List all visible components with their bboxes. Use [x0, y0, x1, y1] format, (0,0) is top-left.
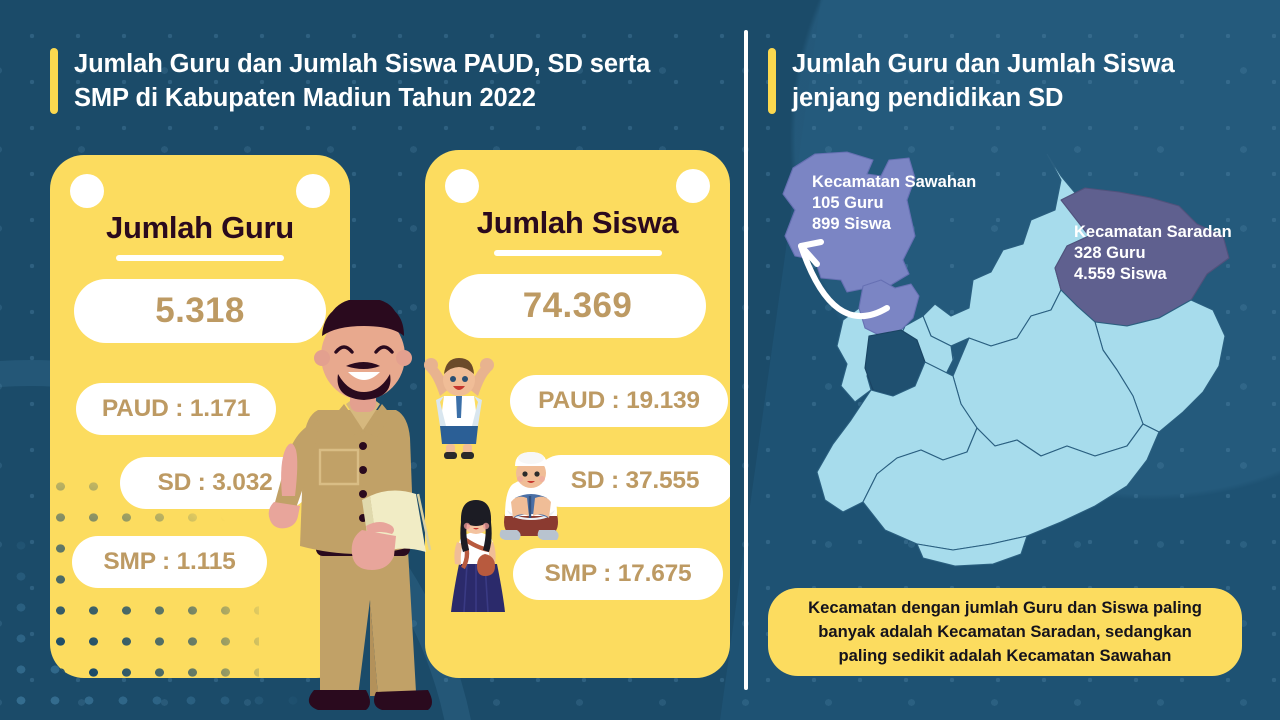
map-label-sawahan-name: Kecamatan Sawahan: [812, 172, 976, 193]
infographic-canvas: Jumlah Guru dan Jumlah Siswa PAUD, SD se…: [0, 0, 1280, 720]
title-right-text: Jumlah Guru dan Jumlah Siswa jenjang pen…: [792, 48, 1175, 115]
card-punch-hole-left: [70, 174, 104, 208]
vertical-divider: [744, 30, 748, 690]
card-siswa-item-sd: SD : 37.555: [535, 455, 730, 507]
card-siswa-total: 74.369: [449, 274, 706, 338]
card-guru-item-sd: SD : 3.032: [120, 457, 310, 509]
card-guru-item-smp: SMP : 1.115: [72, 536, 267, 588]
title-accent-bar: [50, 48, 58, 114]
title-accent-bar: [768, 48, 776, 114]
card-punch-hole-right: [676, 169, 710, 203]
card-punch-hole-left: [445, 169, 479, 203]
card-guru-total: 5.318: [74, 279, 326, 343]
card-siswa-underline: [494, 250, 662, 256]
card-siswa-item-smp: SMP : 17.675: [513, 548, 723, 600]
page-title-right: Jumlah Guru dan Jumlah Siswa jenjang pen…: [768, 48, 1238, 115]
title-left-text: Jumlah Guru dan Jumlah Siswa PAUD, SD se…: [74, 48, 650, 115]
stat-card-siswa: Jumlah Siswa 74.369 PAUD : 19.139 SD : 3…: [425, 150, 730, 678]
map-label-sawahan-students: 899 Siswa: [812, 214, 976, 235]
map-label-saradan-students: 4.559 Siswa: [1074, 264, 1232, 285]
card-punch-hole-right: [296, 174, 330, 208]
map-label-sawahan-teachers: 105 Guru: [812, 193, 976, 214]
map-label-saradan-name: Kecamatan Saradan: [1074, 222, 1232, 243]
map-label-sawahan: Kecamatan Sawahan 105 Guru 899 Siswa: [812, 172, 976, 235]
card-siswa-item-paud: PAUD : 19.139: [510, 375, 728, 427]
card-siswa-title: Jumlah Siswa: [425, 205, 730, 241]
summary-note: Kecamatan dengan jumlah Guru dan Siswa p…: [768, 588, 1242, 676]
card-guru-title: Jumlah Guru: [50, 210, 350, 246]
map-label-saradan-teachers: 328 Guru: [1074, 243, 1232, 264]
stat-card-guru: Jumlah Guru 5.318 PAUD : 1.171 SD : 3.03…: [50, 155, 350, 678]
card-guru-item-paud: PAUD : 1.171: [76, 383, 276, 435]
page-title-left: Jumlah Guru dan Jumlah Siswa PAUD, SD se…: [50, 48, 710, 115]
card-guru-underline: [116, 255, 284, 261]
map-label-saradan: Kecamatan Saradan 328 Guru 4.559 Siswa: [1074, 222, 1232, 285]
